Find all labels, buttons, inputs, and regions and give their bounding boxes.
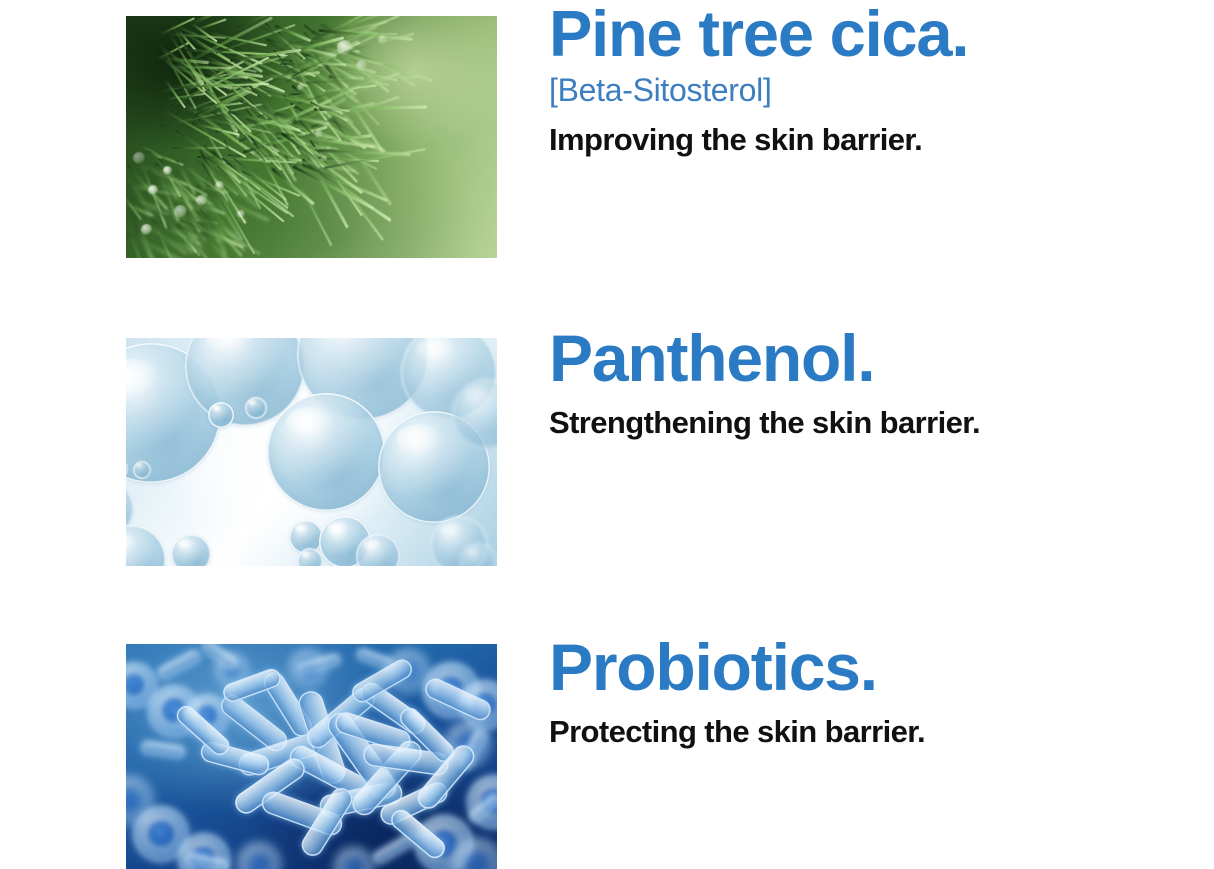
pine-branch-photo bbox=[126, 16, 497, 258]
probiotic-bacteria-photo bbox=[126, 644, 497, 869]
coccus-nucleus bbox=[344, 857, 362, 869]
ingredient-title: Pine tree cica. bbox=[549, 3, 1189, 65]
water-bubble bbox=[208, 402, 234, 428]
ingredient-block-pine-tree-cica: Pine tree cica. [Beta-Sitosterol] Improv… bbox=[0, 0, 1214, 300]
ingredient-block-probiotics: Probiotics. Protecting the skin barrier. bbox=[0, 628, 1214, 853]
ingredient-formula: [Beta-Sitosterol] bbox=[549, 71, 1189, 109]
ingredient-block-panthenol: Panthenol. Strengthening the skin barrie… bbox=[0, 322, 1214, 622]
water-bubble bbox=[297, 548, 323, 566]
coccus-nucleus bbox=[126, 788, 140, 811]
coccus-nucleus bbox=[465, 851, 488, 869]
water-bubbles-photo bbox=[126, 338, 497, 566]
coccus-nucleus bbox=[249, 853, 269, 869]
ingredient-copy-pine-tree-cica: Pine tree cica. [Beta-Sitosterol] Improv… bbox=[549, 3, 1189, 158]
ingredient-benefit: Improving the skin barrier. bbox=[549, 121, 1189, 158]
coccus-nucleus bbox=[148, 821, 174, 847]
ingredient-benefit: Strengthening the skin barrier. bbox=[549, 404, 1189, 441]
ingredient-benefits-panel: Pine tree cica. [Beta-Sitosterol] Improv… bbox=[0, 0, 1214, 853]
pine-depth-blur-overlay bbox=[126, 16, 497, 258]
coccus-nucleus bbox=[126, 674, 144, 695]
water-bubble bbox=[171, 534, 211, 566]
ingredient-copy-panthenol: Panthenol. Strengthening the skin barrie… bbox=[549, 327, 1189, 441]
ingredient-title: Panthenol. bbox=[549, 327, 1189, 390]
ingredient-benefit: Protecting the skin barrier. bbox=[549, 713, 1189, 750]
water-bubble bbox=[245, 397, 267, 419]
ingredient-copy-probiotics: Probiotics. Protecting the skin barrier. bbox=[549, 636, 1189, 750]
ingredient-title: Probiotics. bbox=[549, 636, 1189, 699]
water-bubble bbox=[267, 393, 385, 511]
